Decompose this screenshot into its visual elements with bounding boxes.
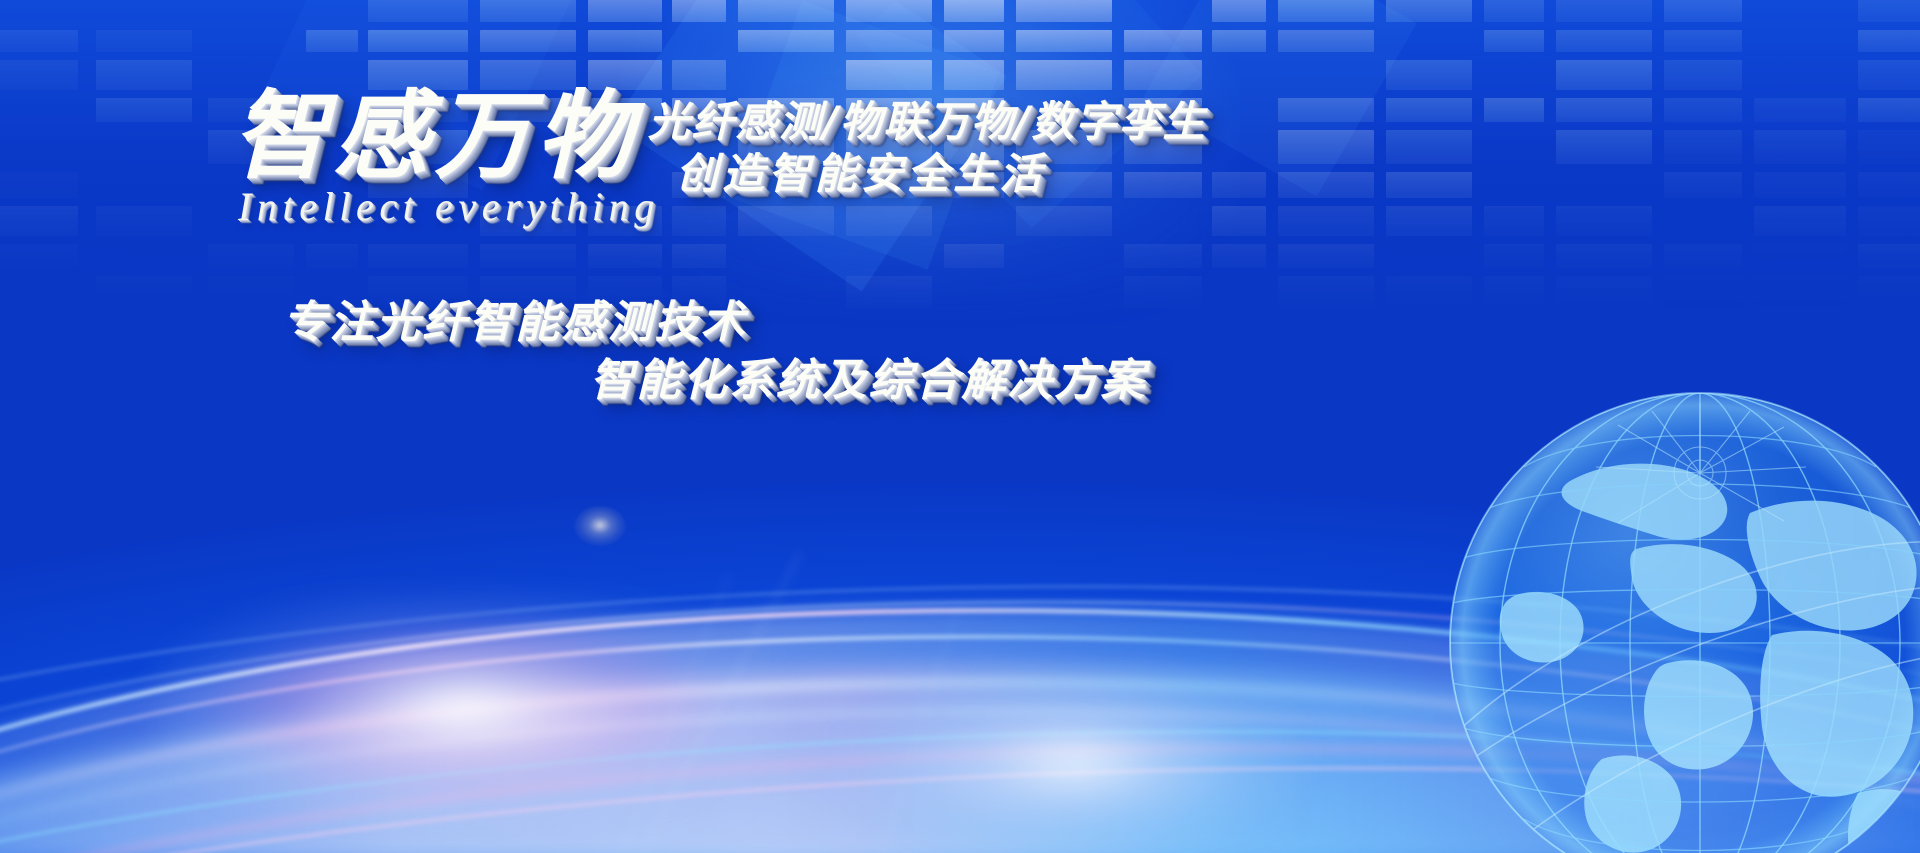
page-subtitle-english: Intellect everything — [238, 183, 660, 230]
slogan-line-2: 创造智能安全生活 — [676, 140, 1046, 201]
page-title: 智感万物 — [232, 88, 637, 184]
promotional-banner: 智感万物 Intellect everything 光纤感测/物联万物/数字孪生… — [0, 0, 1920, 853]
text-layer: 智感万物 Intellect everything 光纤感测/物联万物/数字孪生… — [0, 0, 1920, 853]
focus-line-2: 智能化系统及综合解决方案 — [590, 344, 1147, 408]
focus-line-1: 专注光纤智能感测技术 — [283, 286, 747, 350]
